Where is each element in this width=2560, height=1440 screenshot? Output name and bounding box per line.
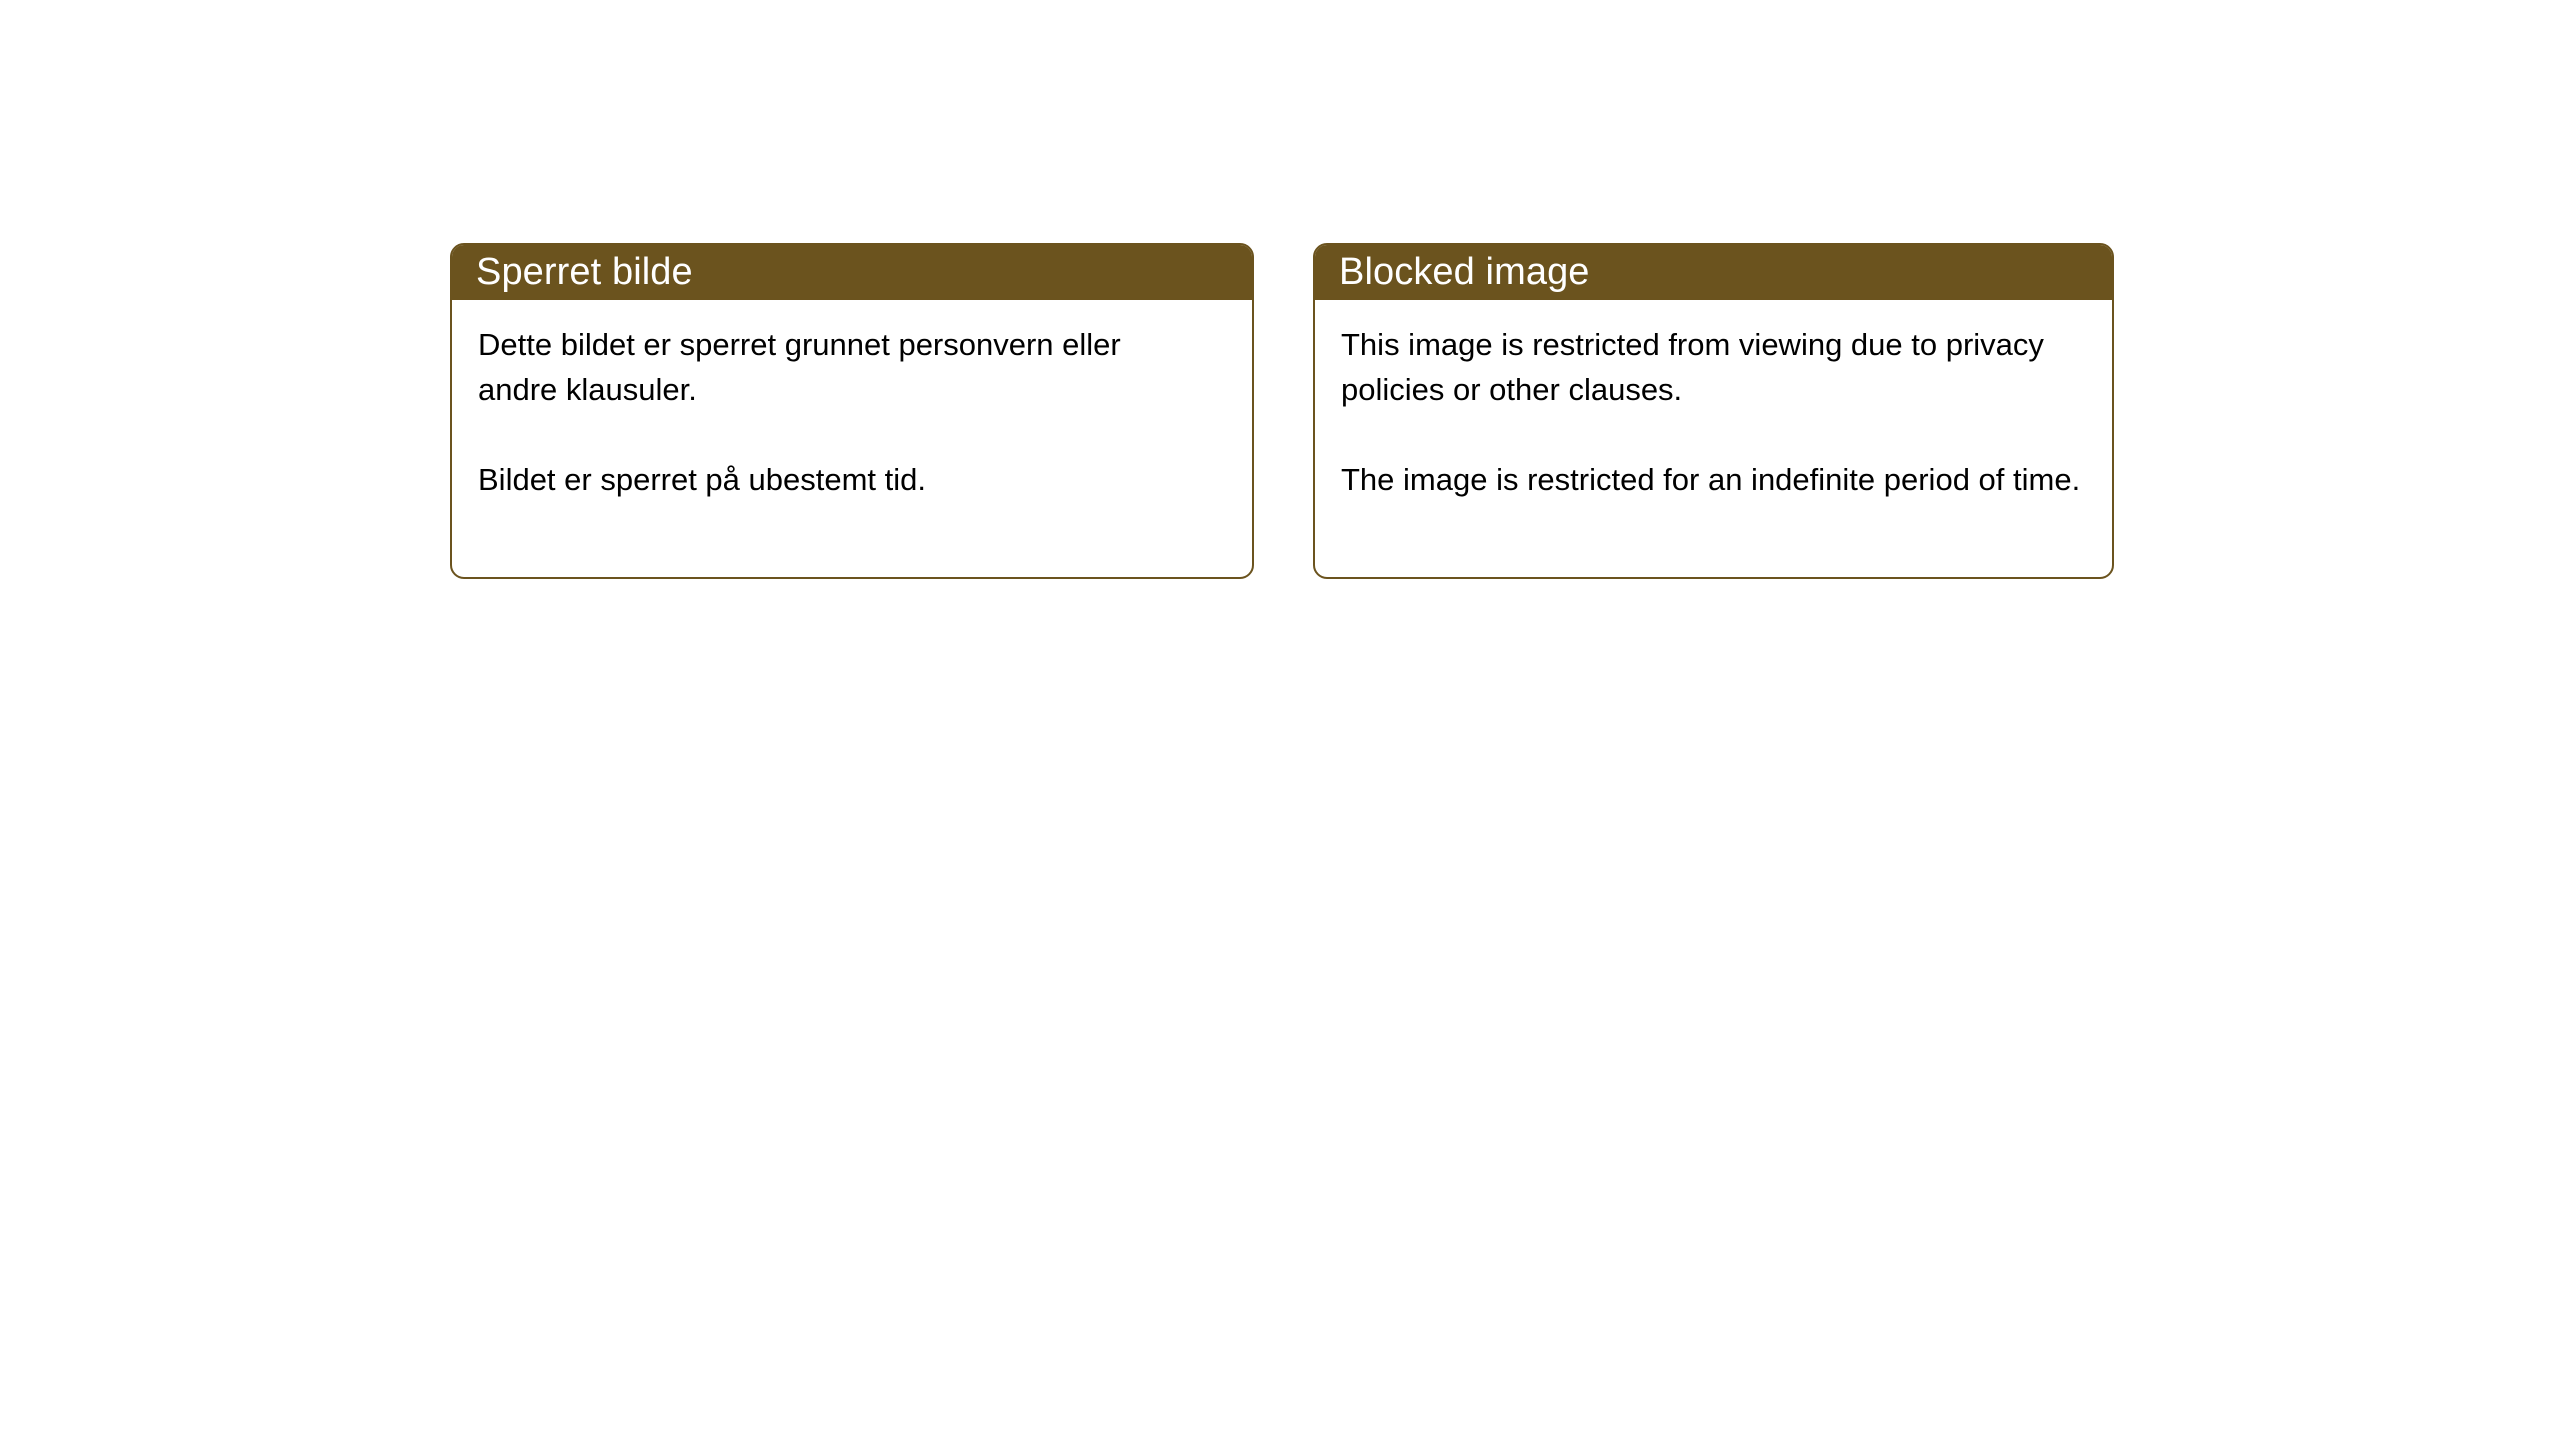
panel-title-norwegian: Sperret bilde bbox=[476, 249, 693, 295]
panel-paragraph-duration-english: The image is restricted for an indefinit… bbox=[1341, 457, 2086, 502]
panel-header-english: Blocked image bbox=[1313, 243, 2114, 300]
panel-title-english: Blocked image bbox=[1339, 249, 1590, 295]
blocked-image-panel-norwegian: Sperret bilde Dette bildet er sperret gr… bbox=[450, 243, 1254, 579]
blocked-image-notice-container: Sperret bilde Dette bildet er sperret gr… bbox=[450, 243, 2114, 583]
panel-paragraph-duration-norwegian: Bildet er sperret på ubestemt tid. bbox=[478, 457, 1208, 502]
panel-header-norwegian: Sperret bilde bbox=[450, 243, 1254, 300]
panel-paragraph-reason-english: This image is restricted from viewing du… bbox=[1341, 322, 2086, 412]
panel-body-norwegian: Dette bildet er sperret grunnet personve… bbox=[452, 300, 1252, 502]
panel-paragraph-reason-norwegian: Dette bildet er sperret grunnet personve… bbox=[478, 322, 1208, 412]
blocked-image-panel-english: Blocked image This image is restricted f… bbox=[1313, 243, 2114, 579]
panel-body-english: This image is restricted from viewing du… bbox=[1315, 300, 2112, 502]
